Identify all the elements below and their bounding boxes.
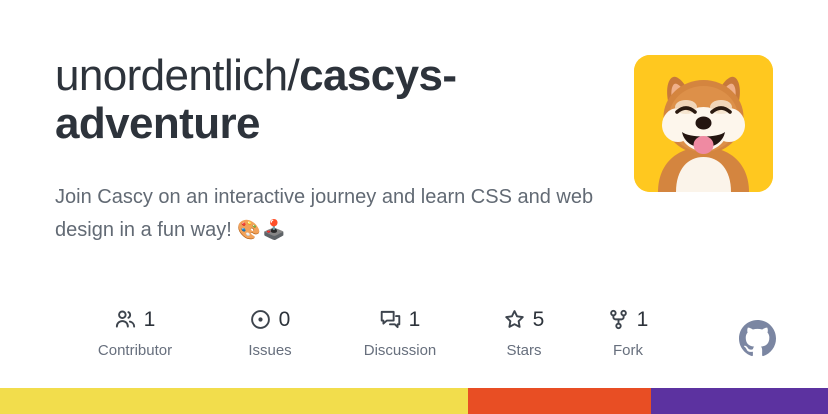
- stat-stars: 5 Stars: [469, 306, 579, 360]
- stat-value: 5: [533, 309, 545, 330]
- stat-fork: 1 Fork: [573, 306, 683, 360]
- people-icon: [115, 309, 136, 330]
- github-mark-icon: [739, 320, 776, 357]
- stat-label: Discussion: [320, 342, 480, 360]
- repo-description-text: Join Cascy on an interactive journey and…: [55, 186, 593, 241]
- repo-forked-icon: [608, 309, 629, 330]
- stat-value: 1: [409, 309, 421, 330]
- issue-opened-icon: [250, 309, 271, 330]
- star-icon: [504, 309, 525, 330]
- bar-segment-purple: [651, 388, 828, 414]
- avatar: [634, 55, 773, 192]
- bar-segment-yellow: [0, 388, 468, 414]
- stat-contributor: 1 Contributor: [55, 306, 215, 360]
- bar-segment-orange: [468, 388, 651, 414]
- github-mark: [739, 320, 776, 357]
- repo-separator: /: [288, 51, 300, 100]
- stat-label: Fork: [573, 342, 683, 360]
- stat-label: Issues: [206, 342, 334, 360]
- stat-label: Contributor: [55, 342, 215, 360]
- stat-value: 1: [144, 309, 156, 330]
- repo-header: unordentlich/cascys-adventure: [55, 52, 615, 148]
- stat-value: 0: [279, 309, 291, 330]
- repo-description: Join Cascy on an interactive journey and…: [55, 181, 630, 247]
- comment-discussion-icon: [380, 309, 401, 330]
- bottom-color-bar: [0, 388, 828, 414]
- page-title: unordentlich/cascys-adventure: [55, 52, 615, 148]
- repo-social-preview-card: unordentlich/cascys-adventure Join Cascy…: [0, 0, 828, 414]
- stat-discussion: 1 Discussion: [320, 306, 480, 360]
- repo-stats: 1 Contributor 0 Issues: [55, 306, 675, 372]
- stat-value: 1: [637, 309, 649, 330]
- stat-label: Stars: [469, 342, 579, 360]
- description-emoji: 🎨🕹️: [237, 220, 286, 241]
- shiba-dog-avatar-icon: [634, 55, 773, 192]
- repo-owner: unordentlich: [55, 51, 288, 100]
- stat-issues: 0 Issues: [206, 306, 334, 360]
